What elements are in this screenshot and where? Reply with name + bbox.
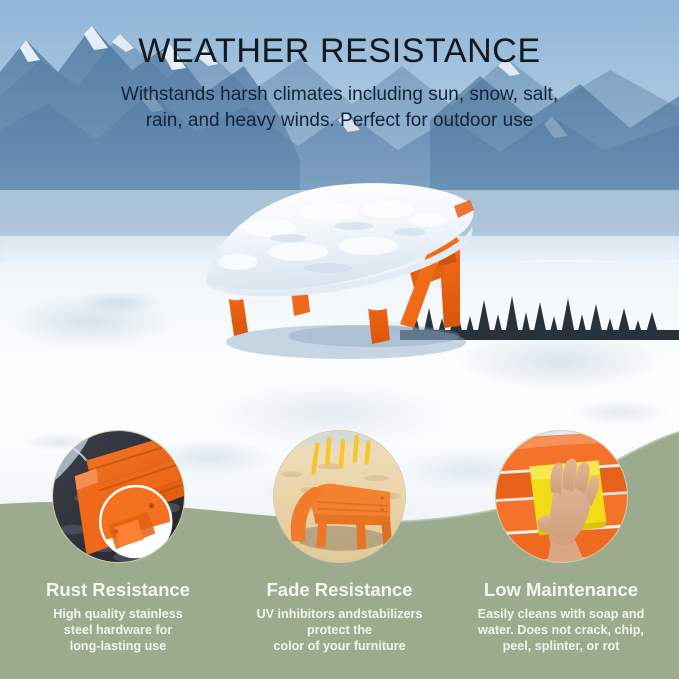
feature-title: Fade Resistance xyxy=(266,579,412,601)
infographic-root: WEATHER RESISTANCE Withstands harsh clim… xyxy=(0,0,679,679)
hero-furniture-image xyxy=(178,176,508,366)
feature-description: High quality stainless steel hardware fo… xyxy=(53,606,182,654)
page-subtitle: Withstands harsh climates including sun,… xyxy=(0,82,679,134)
feature-desc-line-1: UV inhibitors andstabilizers xyxy=(257,606,423,622)
feature-list: Rust Resistance High quality stainless s… xyxy=(0,430,679,670)
feature-desc-line-1: Easily cleans with soap and xyxy=(478,606,645,622)
feature-rust-resistance: Rust Resistance High quality stainless s… xyxy=(12,430,224,670)
subtitle-line-1: Withstands harsh climates including sun,… xyxy=(0,82,679,108)
feature-fade-resistance: Fade Resistance UV inhibitors andstabili… xyxy=(234,430,446,670)
feature-desc-line-3: color of your furniture xyxy=(257,638,423,654)
page-title: WEATHER RESISTANCE xyxy=(0,30,679,72)
feature-desc-line-3: long-lasting use xyxy=(53,638,182,654)
feature-image-low-maintenance[interactable] xyxy=(495,430,628,563)
feature-desc-line-2: protect the xyxy=(257,622,423,638)
feature-desc-line-1: High quality stainless xyxy=(53,606,182,622)
feature-title: Rust Resistance xyxy=(46,579,190,601)
feature-description: UV inhibitors andstabilizers protect the… xyxy=(257,606,423,654)
feature-desc-line-2: steel hardware for xyxy=(53,622,182,638)
feature-low-maintenance: Low Maintenance Easily cleans with soap … xyxy=(455,430,667,670)
feature-title: Low Maintenance xyxy=(484,579,638,601)
feature-desc-line-2: water. Does not crack, chip, xyxy=(478,622,645,638)
subtitle-line-2: rain, and heavy winds. Perfect for outdo… xyxy=(0,108,679,134)
feature-image-fade-resistance[interactable] xyxy=(273,430,406,563)
feature-description: Easily cleans with soap and water. Does … xyxy=(478,606,645,654)
feature-image-rust-resistance[interactable] xyxy=(52,430,185,563)
feature-desc-line-3: peel, splinter, or rot xyxy=(478,638,645,654)
